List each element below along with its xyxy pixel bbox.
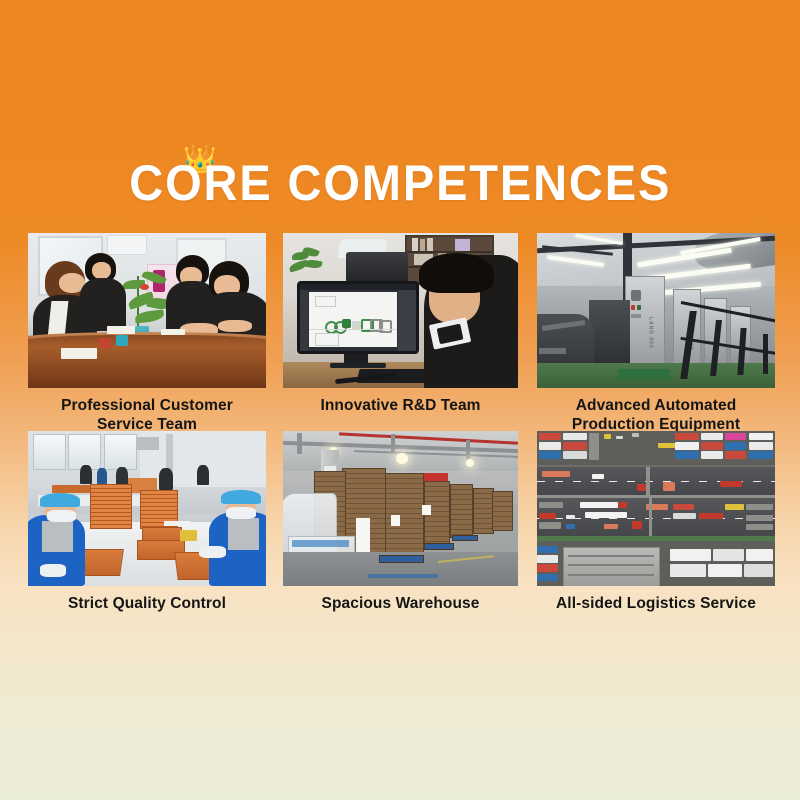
photo-strict-quality-control[interactable] — [28, 431, 266, 586]
photo-all-sided-logistics-service[interactable] — [537, 431, 775, 586]
photo-spacious-warehouse[interactable] — [283, 431, 518, 586]
photo-advanced-automated-production-equipment[interactable]: LAND 800 LAND 800 — [537, 233, 775, 388]
caption-advanced-automated-production-equipment: Advanced Automated Production Equipment — [537, 396, 775, 434]
competence-card-professional-customer-service-team[interactable]: Professional Customer Service Team — [28, 233, 266, 434]
caption-professional-customer-service-team: Professional Customer Service Team — [28, 396, 266, 434]
competence-card-advanced-automated-production-equipment[interactable]: LAND 800 LAND 800 — [537, 233, 775, 434]
competence-grid: Professional Customer Service Team — [0, 233, 800, 627]
competence-card-strict-quality-control[interactable]: Strict Quality Control — [28, 431, 266, 613]
caption-all-sided-logistics-service: All-sided Logistics Service — [537, 594, 775, 613]
page-title: CORE COMPETENCES — [129, 152, 671, 214]
caption-strict-quality-control: Strict Quality Control — [28, 594, 266, 613]
competence-card-all-sided-logistics-service[interactable]: All-sided Logistics Service — [537, 431, 775, 613]
competence-card-innovative-rd-team[interactable]: Innovative R&D Team — [283, 233, 518, 415]
core-competences-banner: 👑 CORE COMPETENCES — [0, 0, 800, 800]
page-title-area: 👑 CORE COMPETENCES — [0, 152, 800, 214]
competence-card-spacious-warehouse[interactable]: Spacious Warehouse — [283, 431, 518, 613]
caption-spacious-warehouse: Spacious Warehouse — [283, 594, 518, 613]
competence-row-1: Professional Customer Service Team — [0, 233, 800, 429]
competence-row-2: Strict Quality Control — [0, 431, 800, 627]
photo-professional-customer-service-team[interactable] — [28, 233, 266, 388]
photo-innovative-rd-team[interactable] — [283, 233, 518, 388]
caption-innovative-rd-team: Innovative R&D Team — [283, 396, 518, 415]
